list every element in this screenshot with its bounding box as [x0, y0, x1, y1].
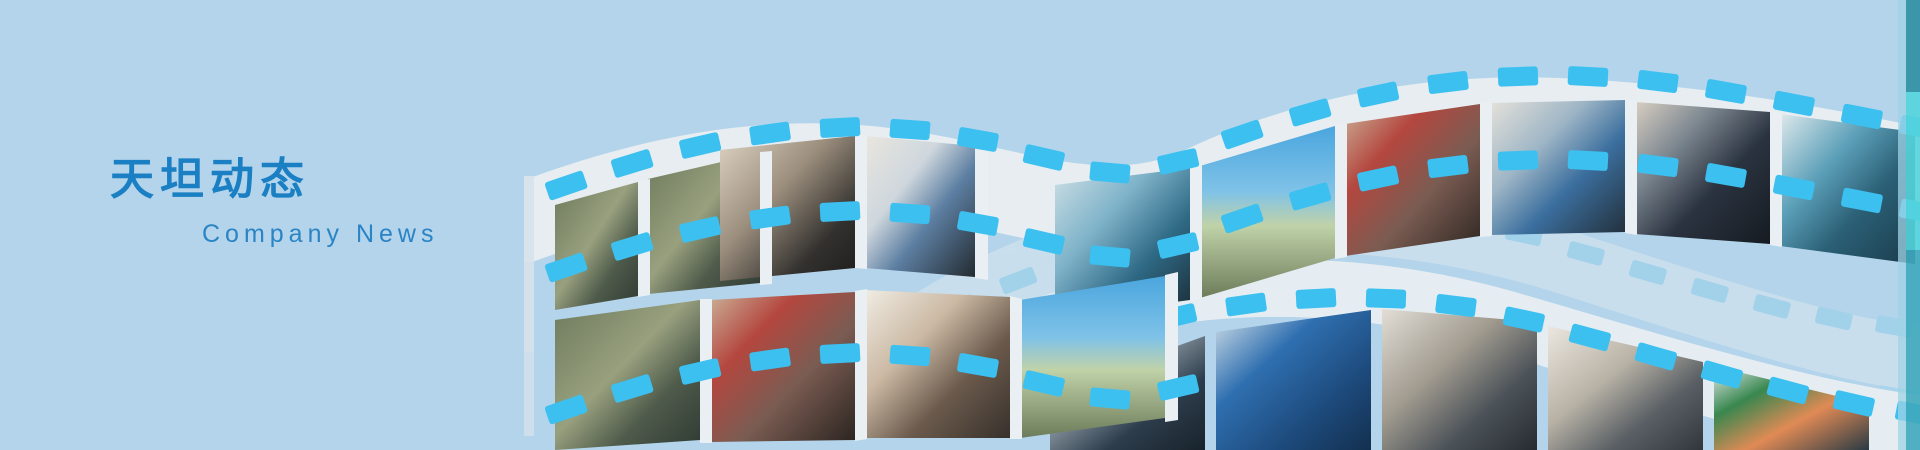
right-edge-inner	[1898, 0, 1906, 450]
banner-title-block: 天坦动态 Company News	[110, 155, 510, 249]
photo-frame	[1382, 309, 1537, 450]
company-news-banner: 天坦动态 Company News	[0, 0, 1920, 450]
right-teal-edge	[1906, 0, 1920, 450]
ribbon-left-fade	[524, 176, 534, 436]
page-subtitle: Company News	[202, 220, 510, 249]
page-title: 天坦动态	[110, 155, 510, 206]
